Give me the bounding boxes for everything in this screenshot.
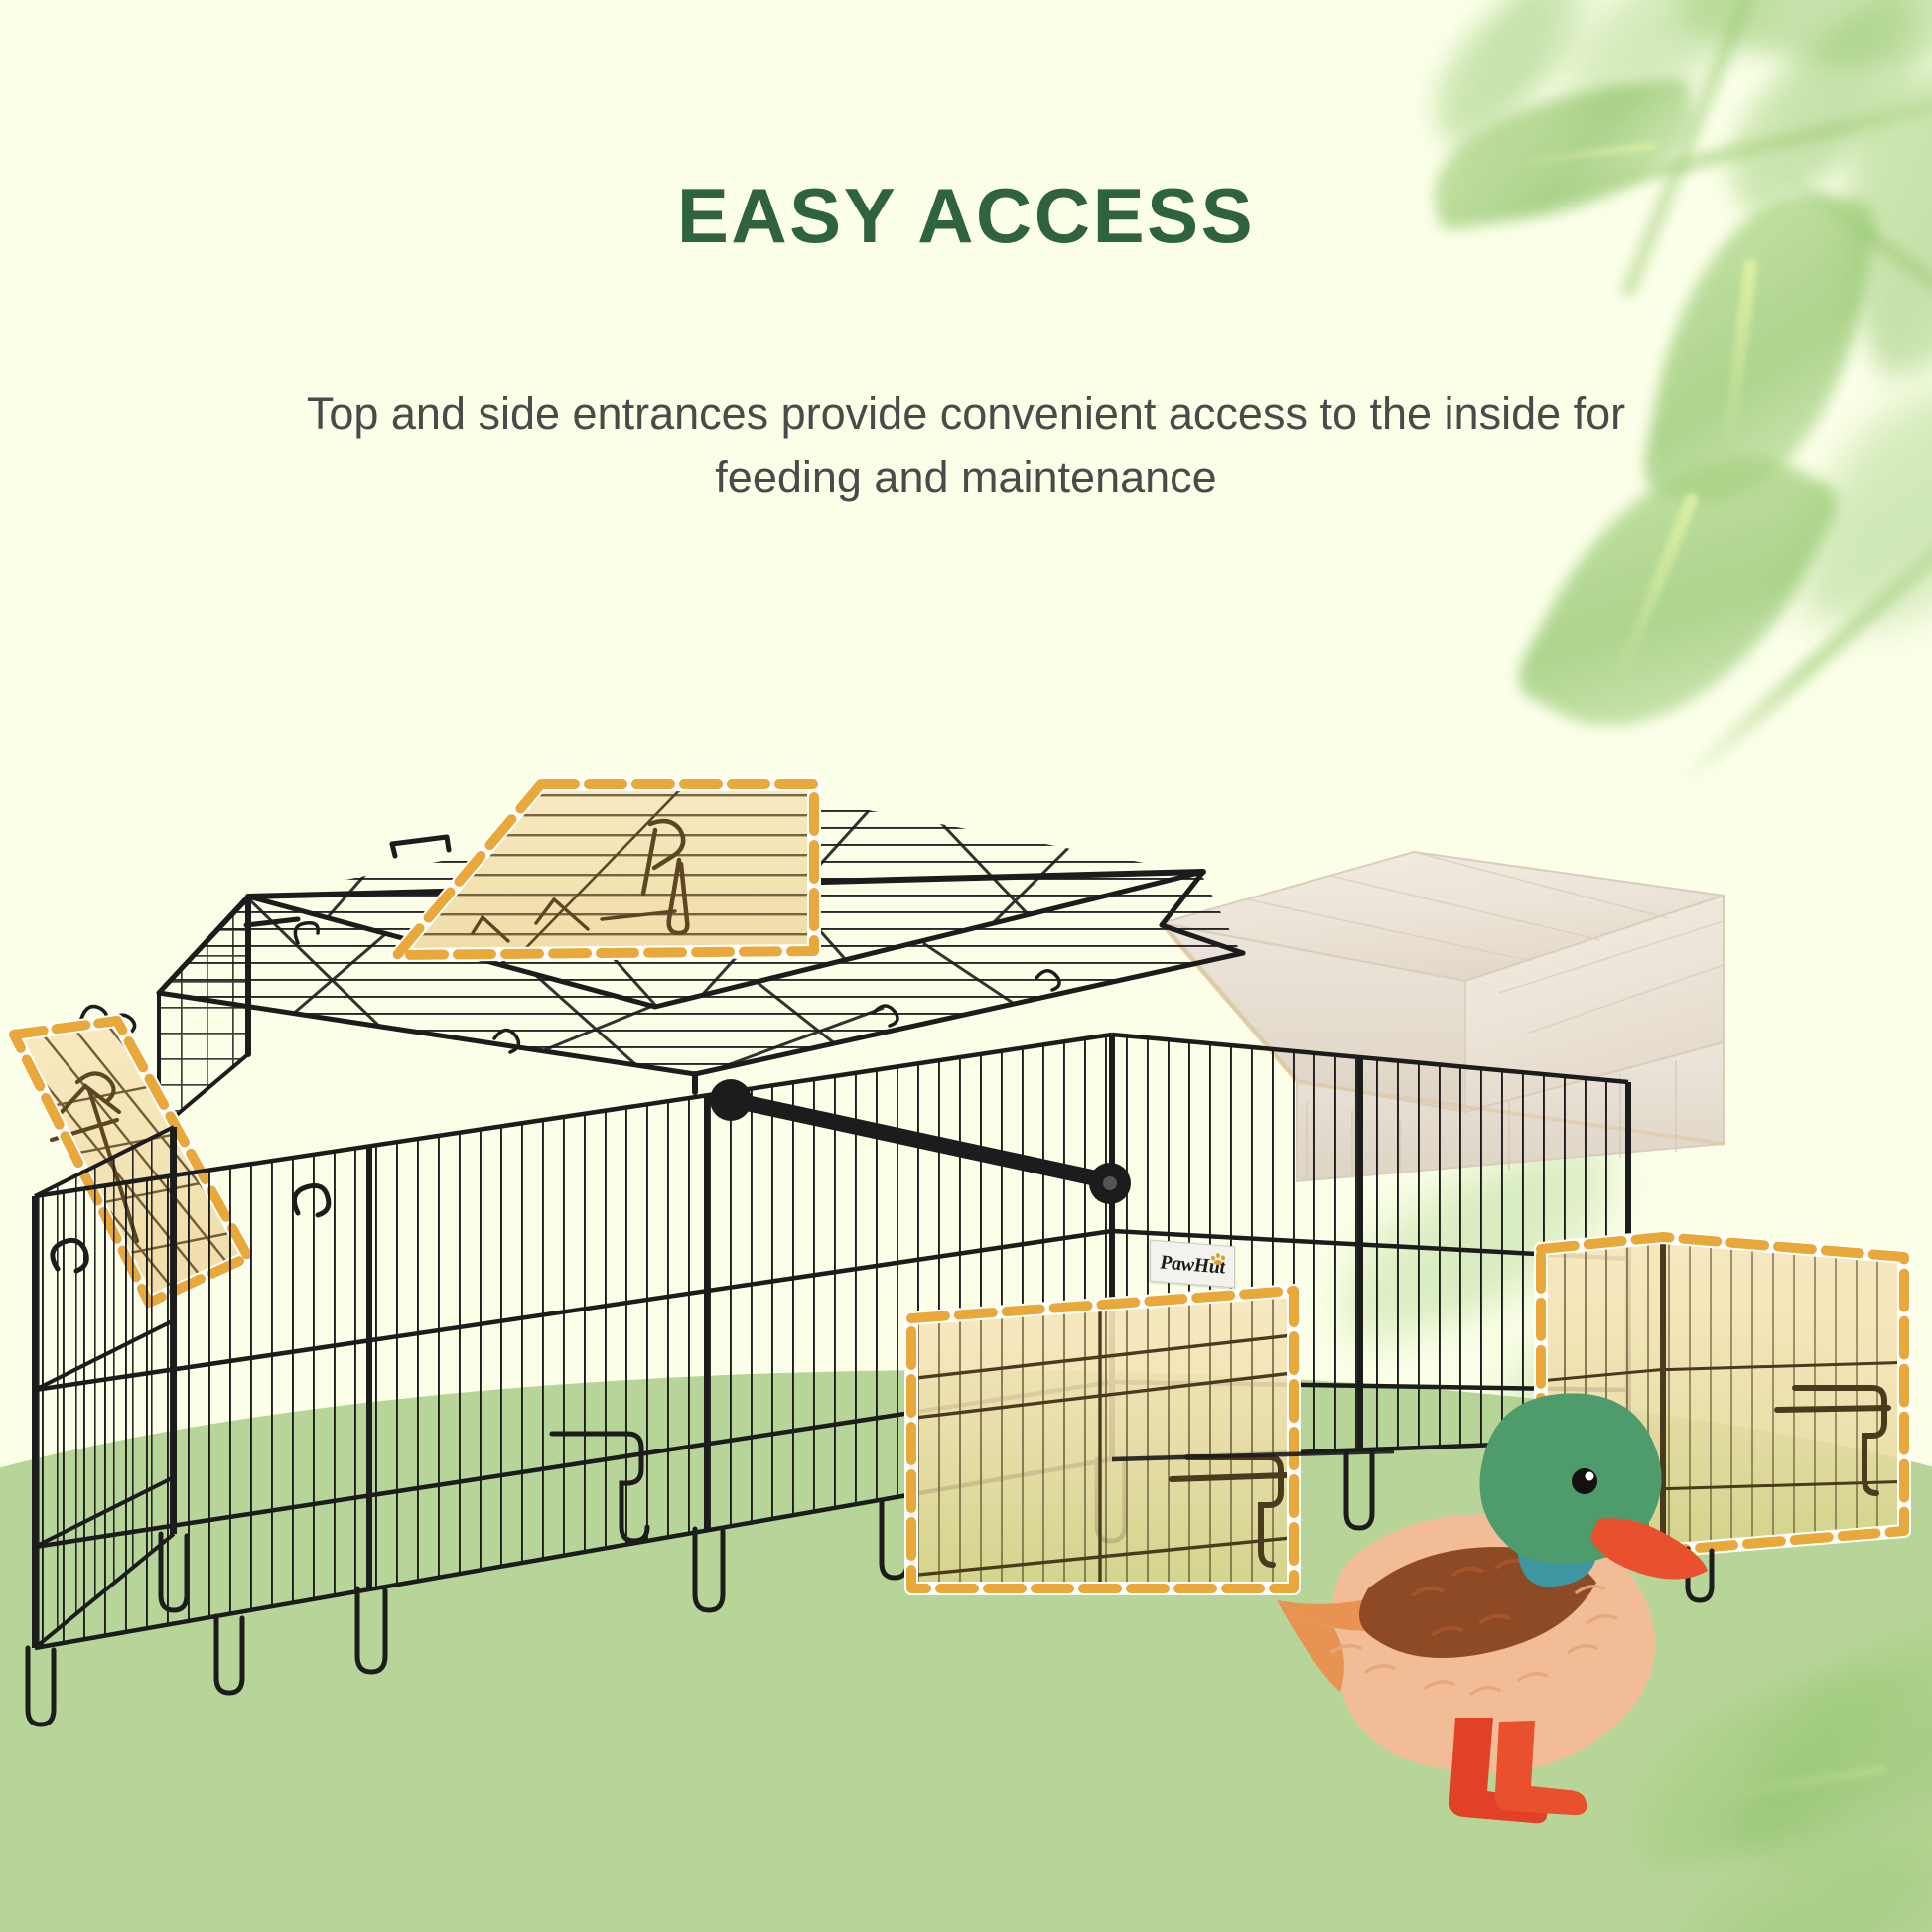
brand-badge: PawHut — [1150, 1240, 1235, 1289]
duck-illustration — [1277, 1393, 1708, 1823]
marketing-image-canvas: EASY ACCESS Top and side entrances provi… — [0, 0, 1932, 1932]
product-illustration — [0, 0, 1932, 1932]
coop-vector-drawing — [0, 0, 1932, 1932]
paw-print-icon — [1211, 1252, 1225, 1265]
front-side-door[interactable] — [898, 1281, 1301, 1598]
